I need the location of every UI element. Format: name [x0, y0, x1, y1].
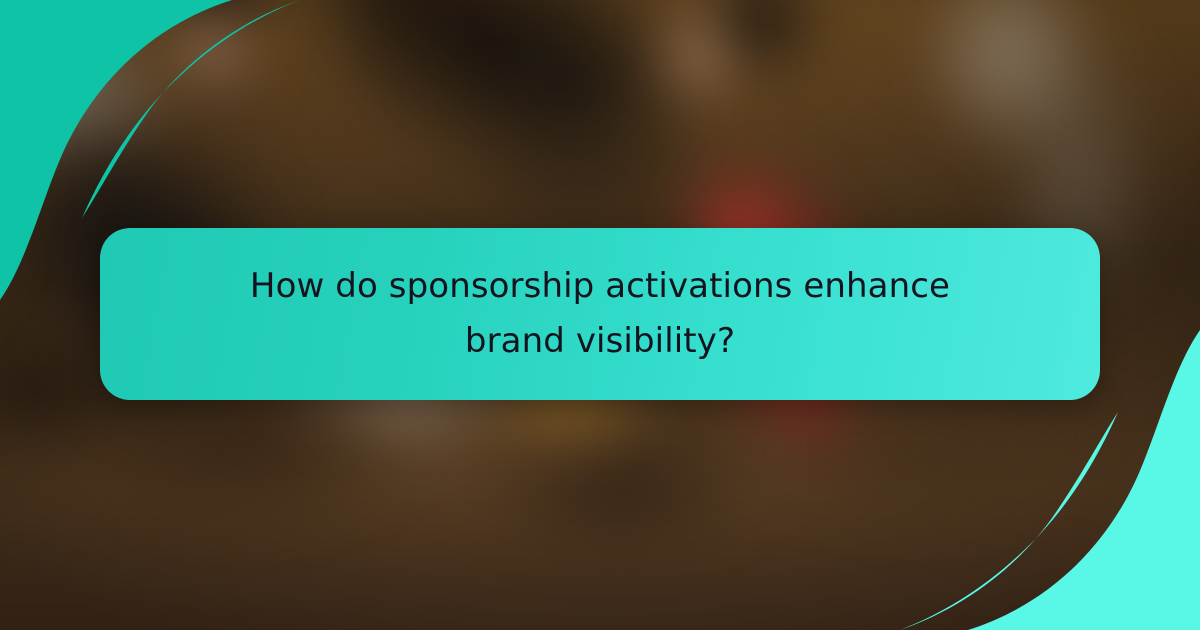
social-card-canvas: How do sponsorship activations enhance b…: [0, 0, 1200, 630]
question-text: How do sponsorship activations enhance b…: [220, 259, 980, 369]
question-card[interactable]: How do sponsorship activations enhance b…: [100, 228, 1100, 400]
